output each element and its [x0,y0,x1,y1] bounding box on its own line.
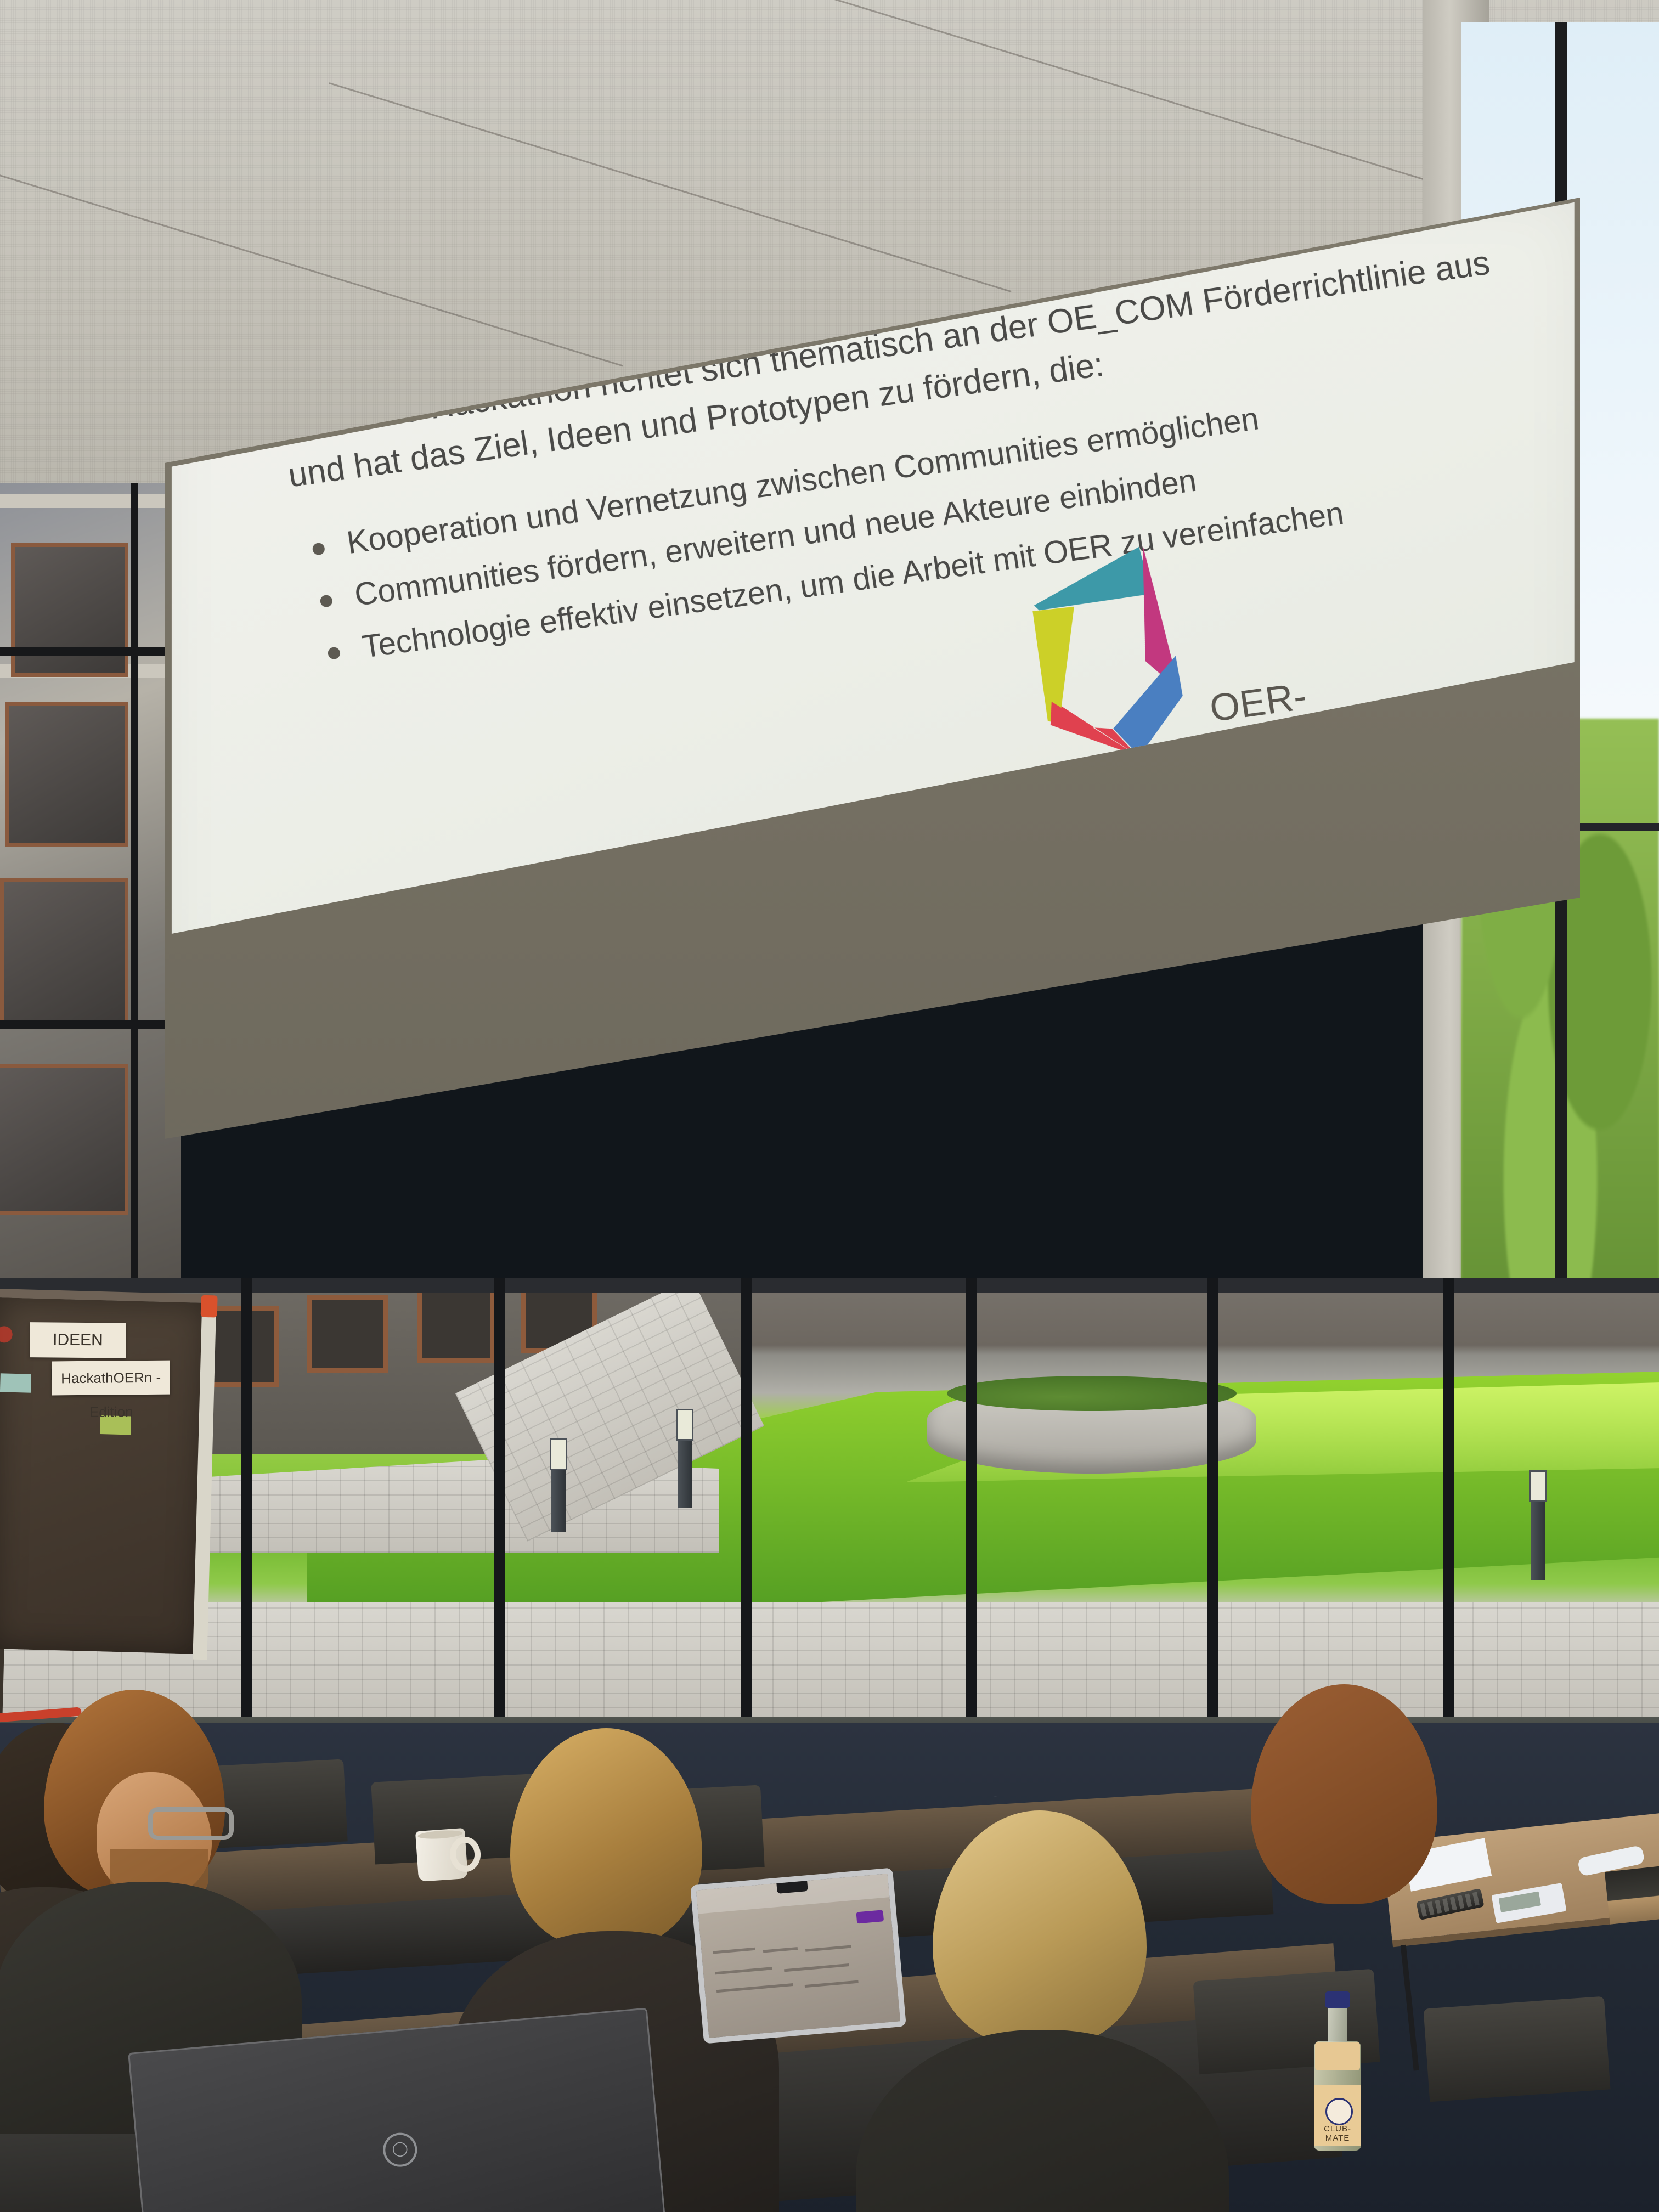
screen-text-line [805,1945,851,1952]
club-mate-bottle[interactable]: CLUB-MATE [1314,1991,1361,2151]
coffee-mug[interactable] [415,1828,468,1882]
window-transom [0,647,181,656]
window-mullion [131,483,138,1284]
bollard-light [1531,1470,1545,1580]
eyeglasses [148,1807,234,1840]
logo-triangle-yellowgreen [1031,606,1091,725]
facade-window [5,702,128,847]
bottle-seal-icon [1325,2098,1353,2125]
bullet-dot-icon [319,594,333,608]
screen-text-line [713,1948,755,1954]
pinboard-note-hackathoern-edition: HackathOERn - Edition [52,1361,170,1396]
screen-text-line [716,1983,793,1993]
facade-band [0,494,181,508]
slide-title-number: 1. [270,343,329,397]
screen-text-line [763,1947,798,1953]
logo-triangle-teal [1028,546,1152,611]
window-left-glass [0,483,181,1284]
bullet-dot-icon [312,542,325,556]
pinboard-corner-cap [201,1295,218,1318]
bottle-label: CLUB-MATE [1314,2085,1361,2146]
bollard-light [551,1438,566,1532]
seat-back[interactable] [1423,1996,1610,2102]
projection-screen: Hackath OERn 1.HackathOERn in Göttingen … [165,198,1580,1404]
bollard-light [678,1409,692,1508]
sticky-note-teal [0,1373,31,1392]
screen-text-line [805,1980,859,1988]
ceiling-seam [768,0,1451,188]
facade-window [0,1064,128,1215]
facade-window [0,878,128,1028]
bottle-neck-label [1315,2042,1360,2070]
lecture-hall-photo: Hackath OERn 1.HackathOERn in Göttingen … [0,0,1659,2212]
bottle-brand-text: CLUB-MATE [1314,2124,1361,2143]
screen-text-line [784,1963,849,1972]
equipment-box [1605,1865,1659,1925]
screen-text-line [715,1967,772,1974]
laptop-screen[interactable] [690,1867,906,2044]
window-transom [0,1020,181,1029]
facade-window [11,543,128,677]
bottle-cap [1325,1991,1350,2008]
pinboard-note-ideenlabor: IDEEN LABOR [30,1322,126,1358]
bullet-dot-icon [327,646,341,660]
open-laptop[interactable] [690,1867,906,2044]
pinboard: IDEEN LABOR HackathOERn - Edition [0,1297,207,1654]
mug-rim [417,1829,463,1840]
screen-highlight-badge [856,1910,884,1924]
